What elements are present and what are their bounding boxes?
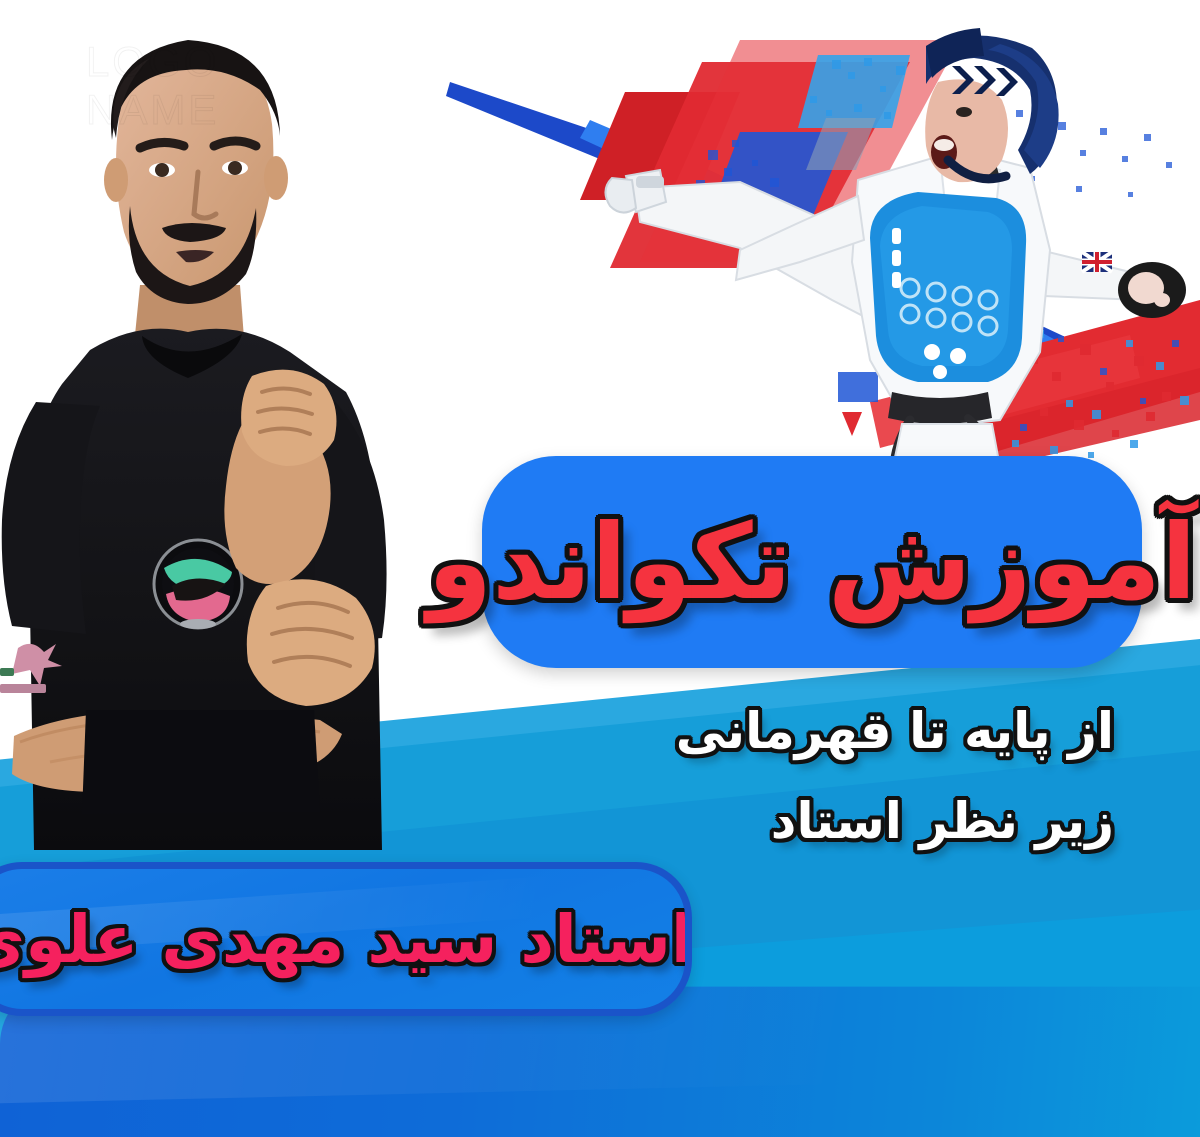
watermark-line-1: LOGO [86,38,219,86]
instructor-name-badge: استاد سید مهدی علوی [0,862,692,1016]
instructor-name: استاد سید مهدی علوی [0,901,692,978]
poster-canvas: LOGO NAME آموزش تکواندو از پایه تا قهرما… [0,0,1200,1137]
instructor-photo [0,20,460,850]
watermark-logo: LOGO NAME [86,38,219,135]
subtitle-secondary: زیر نظر استاد [771,792,1114,850]
page-title: آموزش تکواندو [428,501,1197,623]
subtitle-primary: از پایه تا قهرمانی [676,702,1114,760]
title-pill: آموزش تکواندو [482,456,1142,668]
watermark-line-2: NAME [86,86,219,134]
